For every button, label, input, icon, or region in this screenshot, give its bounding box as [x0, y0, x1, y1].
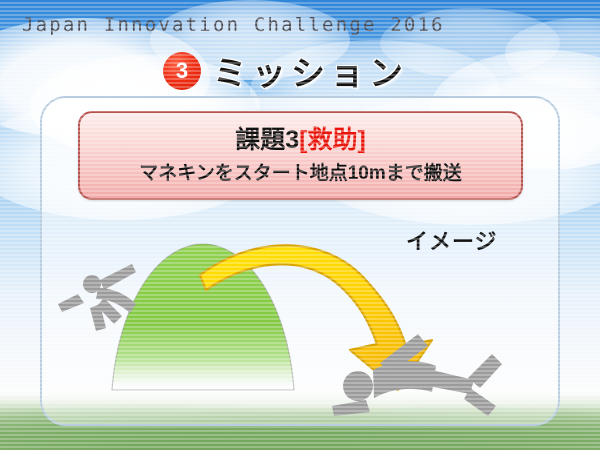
mission-number-badge: 3 [163, 52, 201, 90]
task-callout-box: 課題3[救助] マネキンをスタート地点10mまで搬送 [78, 111, 523, 200]
task-subtitle: マネキンをスタート地点10mまで搬送 [139, 158, 461, 185]
brand-title: Japan Innovation Challenge 2016 [22, 14, 445, 36]
cloud-shape [505, 18, 600, 88]
mission-heading: 3 ミッション [163, 46, 408, 95]
image-caption: イメージ [406, 224, 498, 256]
mission-number: 3 [176, 60, 188, 82]
task-title-main: 課題3 [235, 126, 299, 154]
mission-title: ミッション [213, 46, 408, 95]
presentation-slide: Japan Innovation Challenge 2016 3 ミッション … [0, 0, 600, 450]
mannequin-at-start-point [332, 334, 502, 416]
mannequin-on-hill [58, 264, 136, 331]
task-title: 課題3[救助] [235, 126, 366, 155]
task-title-accent: [救助] [299, 126, 366, 154]
